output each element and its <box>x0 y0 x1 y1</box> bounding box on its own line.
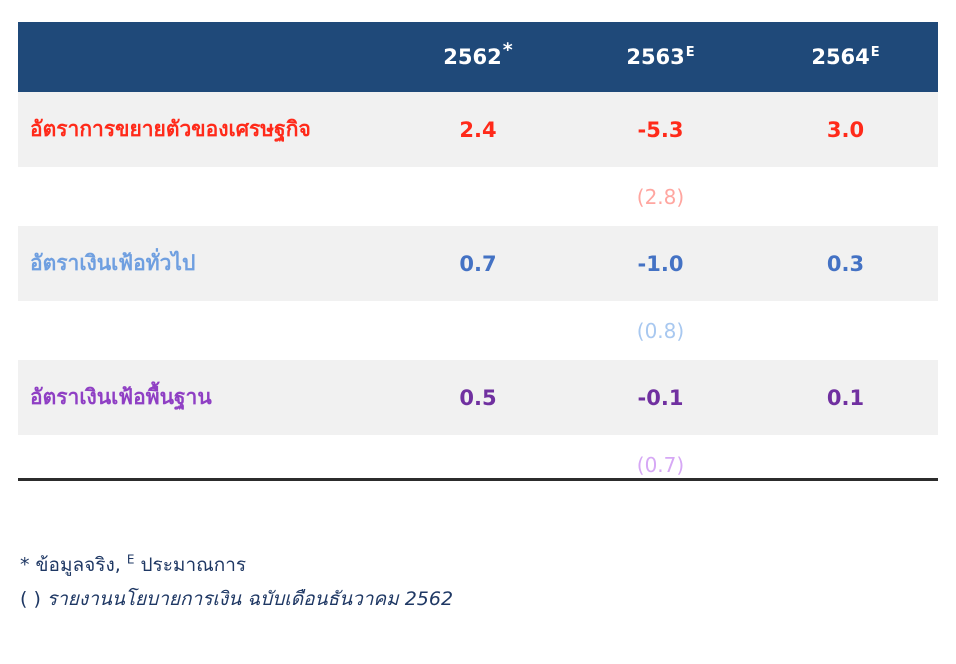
cell-core-prev-2563: (0.7) <box>568 435 753 494</box>
cell-core-2563: -0.1 <box>568 360 753 435</box>
cell-core-prev-2562 <box>388 435 568 494</box>
row-label-gdp-growth: อัตราการขยายตัวของเศรษฐกิจ <box>18 92 388 167</box>
table-subrow: (2.8) <box>18 167 938 226</box>
cell-headline-prev-2562 <box>388 301 568 360</box>
cell-gdp-prev-2562 <box>388 167 568 226</box>
header-year-2562: 2562* <box>388 22 568 92</box>
cell-core-2564: 0.1 <box>753 360 938 435</box>
cell-gdp-2564: 3.0 <box>753 92 938 167</box>
header-year-2563-text: 2563 <box>626 45 684 69</box>
subrow-label-gdp-growth <box>18 167 388 226</box>
header-year-2564-mark: E <box>871 45 880 60</box>
table-bottom-rule <box>18 478 938 481</box>
forecast-table-sheet: 2562* 2563E 2564E อัตราการขยายตัวขอ <box>0 0 956 664</box>
header-year-2563-mark: E <box>686 45 695 60</box>
subrow-label-headline-inflation <box>18 301 388 360</box>
cell-core-prev-2564 <box>753 435 938 494</box>
row-label-headline-inflation: อัตราเงินเฟ้อทั่วไป <box>18 226 388 301</box>
header-year-2564-text: 2564 <box>811 45 869 69</box>
header-year-2562-text: 2562 <box>443 45 501 69</box>
footnotes: * ข้อมูลจริง, E ประมาณการ ( ) รายงานนโยบ… <box>20 548 920 616</box>
table-body: อัตราการขยายตัวของเศรษฐกิจ 2.4 -5.3 3.0 … <box>18 92 938 494</box>
footnote-1-prefix: * ข้อมูลจริง, <box>20 554 127 576</box>
header-year-2562-mark: * <box>503 39 513 61</box>
header-year-2564: 2564E <box>753 22 938 92</box>
cell-headline-2563: -1.0 <box>568 226 753 301</box>
table-subrow: (0.7) <box>18 435 938 494</box>
table-subrow: (0.8) <box>18 301 938 360</box>
table-row: อัตราเงินเฟ้อทั่วไป 0.7 -1.0 0.3 <box>18 226 938 301</box>
economic-forecast-table: 2562* 2563E 2564E อัตราการขยายตัวขอ <box>18 22 938 494</box>
table-row: อัตราการขยายตัวของเศรษฐกิจ 2.4 -5.3 3.0 <box>18 92 938 167</box>
cell-gdp-prev-2563: (2.8) <box>568 167 753 226</box>
header-year-2563: 2563E <box>568 22 753 92</box>
footnote-2-mark: ( ) <box>20 588 47 610</box>
subrow-label-core-inflation <box>18 435 388 494</box>
cell-headline-prev-2564 <box>753 301 938 360</box>
table-row: อัตราเงินเฟ้อพื้นฐาน 0.5 -0.1 0.1 <box>18 360 938 435</box>
table-header: 2562* 2563E 2564E <box>18 22 938 92</box>
footnote-2-text: รายงานนโยบายการเงิน ฉบับเดือนธันวาคม 256… <box>47 588 453 610</box>
cell-headline-prev-2563: (0.8) <box>568 301 753 360</box>
footnote-1-suffix: ประมาณการ <box>134 554 246 576</box>
footnote-line-2: ( ) รายงานนโยบายการเงิน ฉบับเดือนธันวาคม… <box>20 582 920 616</box>
cell-headline-2562: 0.7 <box>388 226 568 301</box>
cell-gdp-prev-2564 <box>753 167 938 226</box>
row-label-core-inflation: อัตราเงินเฟ้อพื้นฐาน <box>18 360 388 435</box>
cell-gdp-2562: 2.4 <box>388 92 568 167</box>
footnote-line-1: * ข้อมูลจริง, E ประมาณการ <box>20 548 920 582</box>
header-row: 2562* 2563E 2564E <box>18 22 938 92</box>
cell-gdp-2563: -5.3 <box>568 92 753 167</box>
cell-headline-2564: 0.3 <box>753 226 938 301</box>
cell-core-2562: 0.5 <box>388 360 568 435</box>
header-label-cell <box>18 22 388 92</box>
